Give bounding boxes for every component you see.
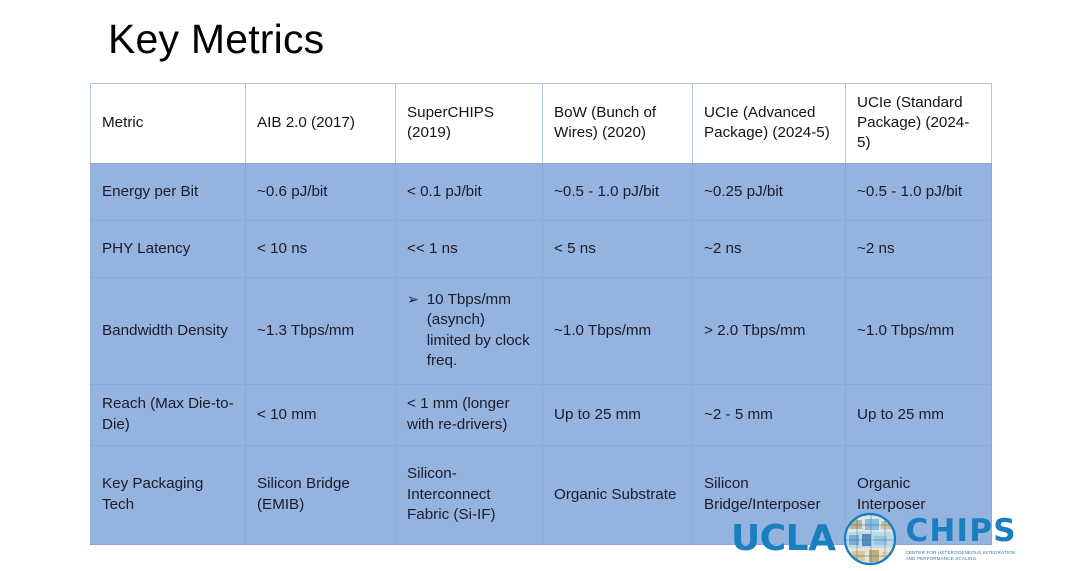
cell-ucie-advanced: ~2 - 5 mm — [693, 384, 846, 445]
cell-superchips: << 1 ns — [396, 220, 543, 277]
cell-metric-name: Reach (Max Die-to-Die) — [91, 384, 246, 445]
ucla-wordmark: UCLA — [731, 521, 835, 557]
cell-metric-name: Energy per Bit — [91, 163, 246, 220]
cell-ucie-standard: Up to 25 mm — [846, 384, 992, 445]
table-body: Energy per Bit ~0.6 pJ/bit < 0.1 pJ/bit … — [91, 163, 992, 544]
table-row: PHY Latency < 10 ns << 1 ns < 5 ns ~2 ns… — [91, 220, 992, 277]
page-title: Key Metrics — [108, 16, 324, 63]
cell-ucie-standard: ~2 ns — [846, 220, 992, 277]
cell-ucie-standard: ~1.0 Tbps/mm — [846, 277, 992, 384]
column-header-ucie-standard: UCIe (Standard Package) (2024-5) — [846, 84, 992, 164]
chips-circuit-emblem-icon — [843, 512, 897, 566]
cell-ucie-advanced: ~0.25 pJ/bit — [693, 163, 846, 220]
cell-bow: ~1.0 Tbps/mm — [543, 277, 693, 384]
arrow-bullet-icon: ➢ — [407, 290, 419, 309]
column-header-metric: Metric — [91, 84, 246, 164]
cell-superchips: < 0.1 pJ/bit — [396, 163, 543, 220]
metrics-table-container: Metric AIB 2.0 (2017) SuperCHIPS (2019) … — [90, 83, 991, 545]
cell-superchips: ➢ 10 Tbps/mm (asynch) limited by clock f… — [396, 277, 543, 384]
chips-tagline: CENTER FOR HETEROGENEOUS INTEGRATION AND… — [905, 550, 1016, 563]
table-header-row: Metric AIB 2.0 (2017) SuperCHIPS (2019) … — [91, 84, 992, 164]
cell-aib: < 10 ns — [246, 220, 396, 277]
cell-ucie-standard: ~0.5 - 1.0 pJ/bit — [846, 163, 992, 220]
cell-ucie-advanced: ~2 ns — [693, 220, 846, 277]
table-row: Energy per Bit ~0.6 pJ/bit < 0.1 pJ/bit … — [91, 163, 992, 220]
cell-ucie-advanced: > 2.0 Tbps/mm — [693, 277, 846, 384]
cell-superchips: Silicon-Interconnect Fabric (Si-IF) — [396, 445, 543, 544]
table-header: Metric AIB 2.0 (2017) SuperCHIPS (2019) … — [91, 84, 992, 164]
cell-bow: Up to 25 mm — [543, 384, 693, 445]
cell-bow: Organic Substrate — [543, 445, 693, 544]
chips-text-block: CHIPS CENTER FOR HETEROGENEOUS INTEGRATI… — [905, 516, 1016, 563]
cell-aib: < 10 mm — [246, 384, 396, 445]
table-row: Reach (Max Die-to-Die) < 10 mm < 1 mm (l… — [91, 384, 992, 445]
cell-aib: ~0.6 pJ/bit — [246, 163, 396, 220]
chips-wordmark: CHIPS — [905, 516, 1016, 547]
cell-aib: Silicon Bridge (EMIB) — [246, 445, 396, 544]
cell-metric-name: Key Packaging Tech — [91, 445, 246, 544]
column-header-bow: BoW (Bunch of Wires) (2020) — [543, 84, 693, 164]
bullet-list-item: ➢ 10 Tbps/mm (asynch) limited by clock f… — [407, 290, 531, 371]
bullet-text: 10 Tbps/mm (asynch) limited by clock fre… — [427, 290, 531, 371]
cell-metric-name: PHY Latency — [91, 220, 246, 277]
column-header-aib: AIB 2.0 (2017) — [246, 84, 396, 164]
cell-metric-name: Bandwidth Density — [91, 277, 246, 384]
ucla-chips-logo: UCLA — [731, 513, 1016, 565]
cell-bow: ~0.5 - 1.0 pJ/bit — [543, 163, 693, 220]
column-header-superchips: SuperCHIPS (2019) — [396, 84, 543, 164]
table-row: Bandwidth Density ~1.3 Tbps/mm ➢ 10 Tbps… — [91, 277, 992, 384]
cell-bow: < 5 ns — [543, 220, 693, 277]
metrics-table: Metric AIB 2.0 (2017) SuperCHIPS (2019) … — [90, 83, 992, 545]
column-header-ucie-advanced: UCIe (Advanced Package) (2024-5) — [693, 84, 846, 164]
cell-superchips: < 1 mm (longer with re-drivers) — [396, 384, 543, 445]
cell-aib: ~1.3 Tbps/mm — [246, 277, 396, 384]
